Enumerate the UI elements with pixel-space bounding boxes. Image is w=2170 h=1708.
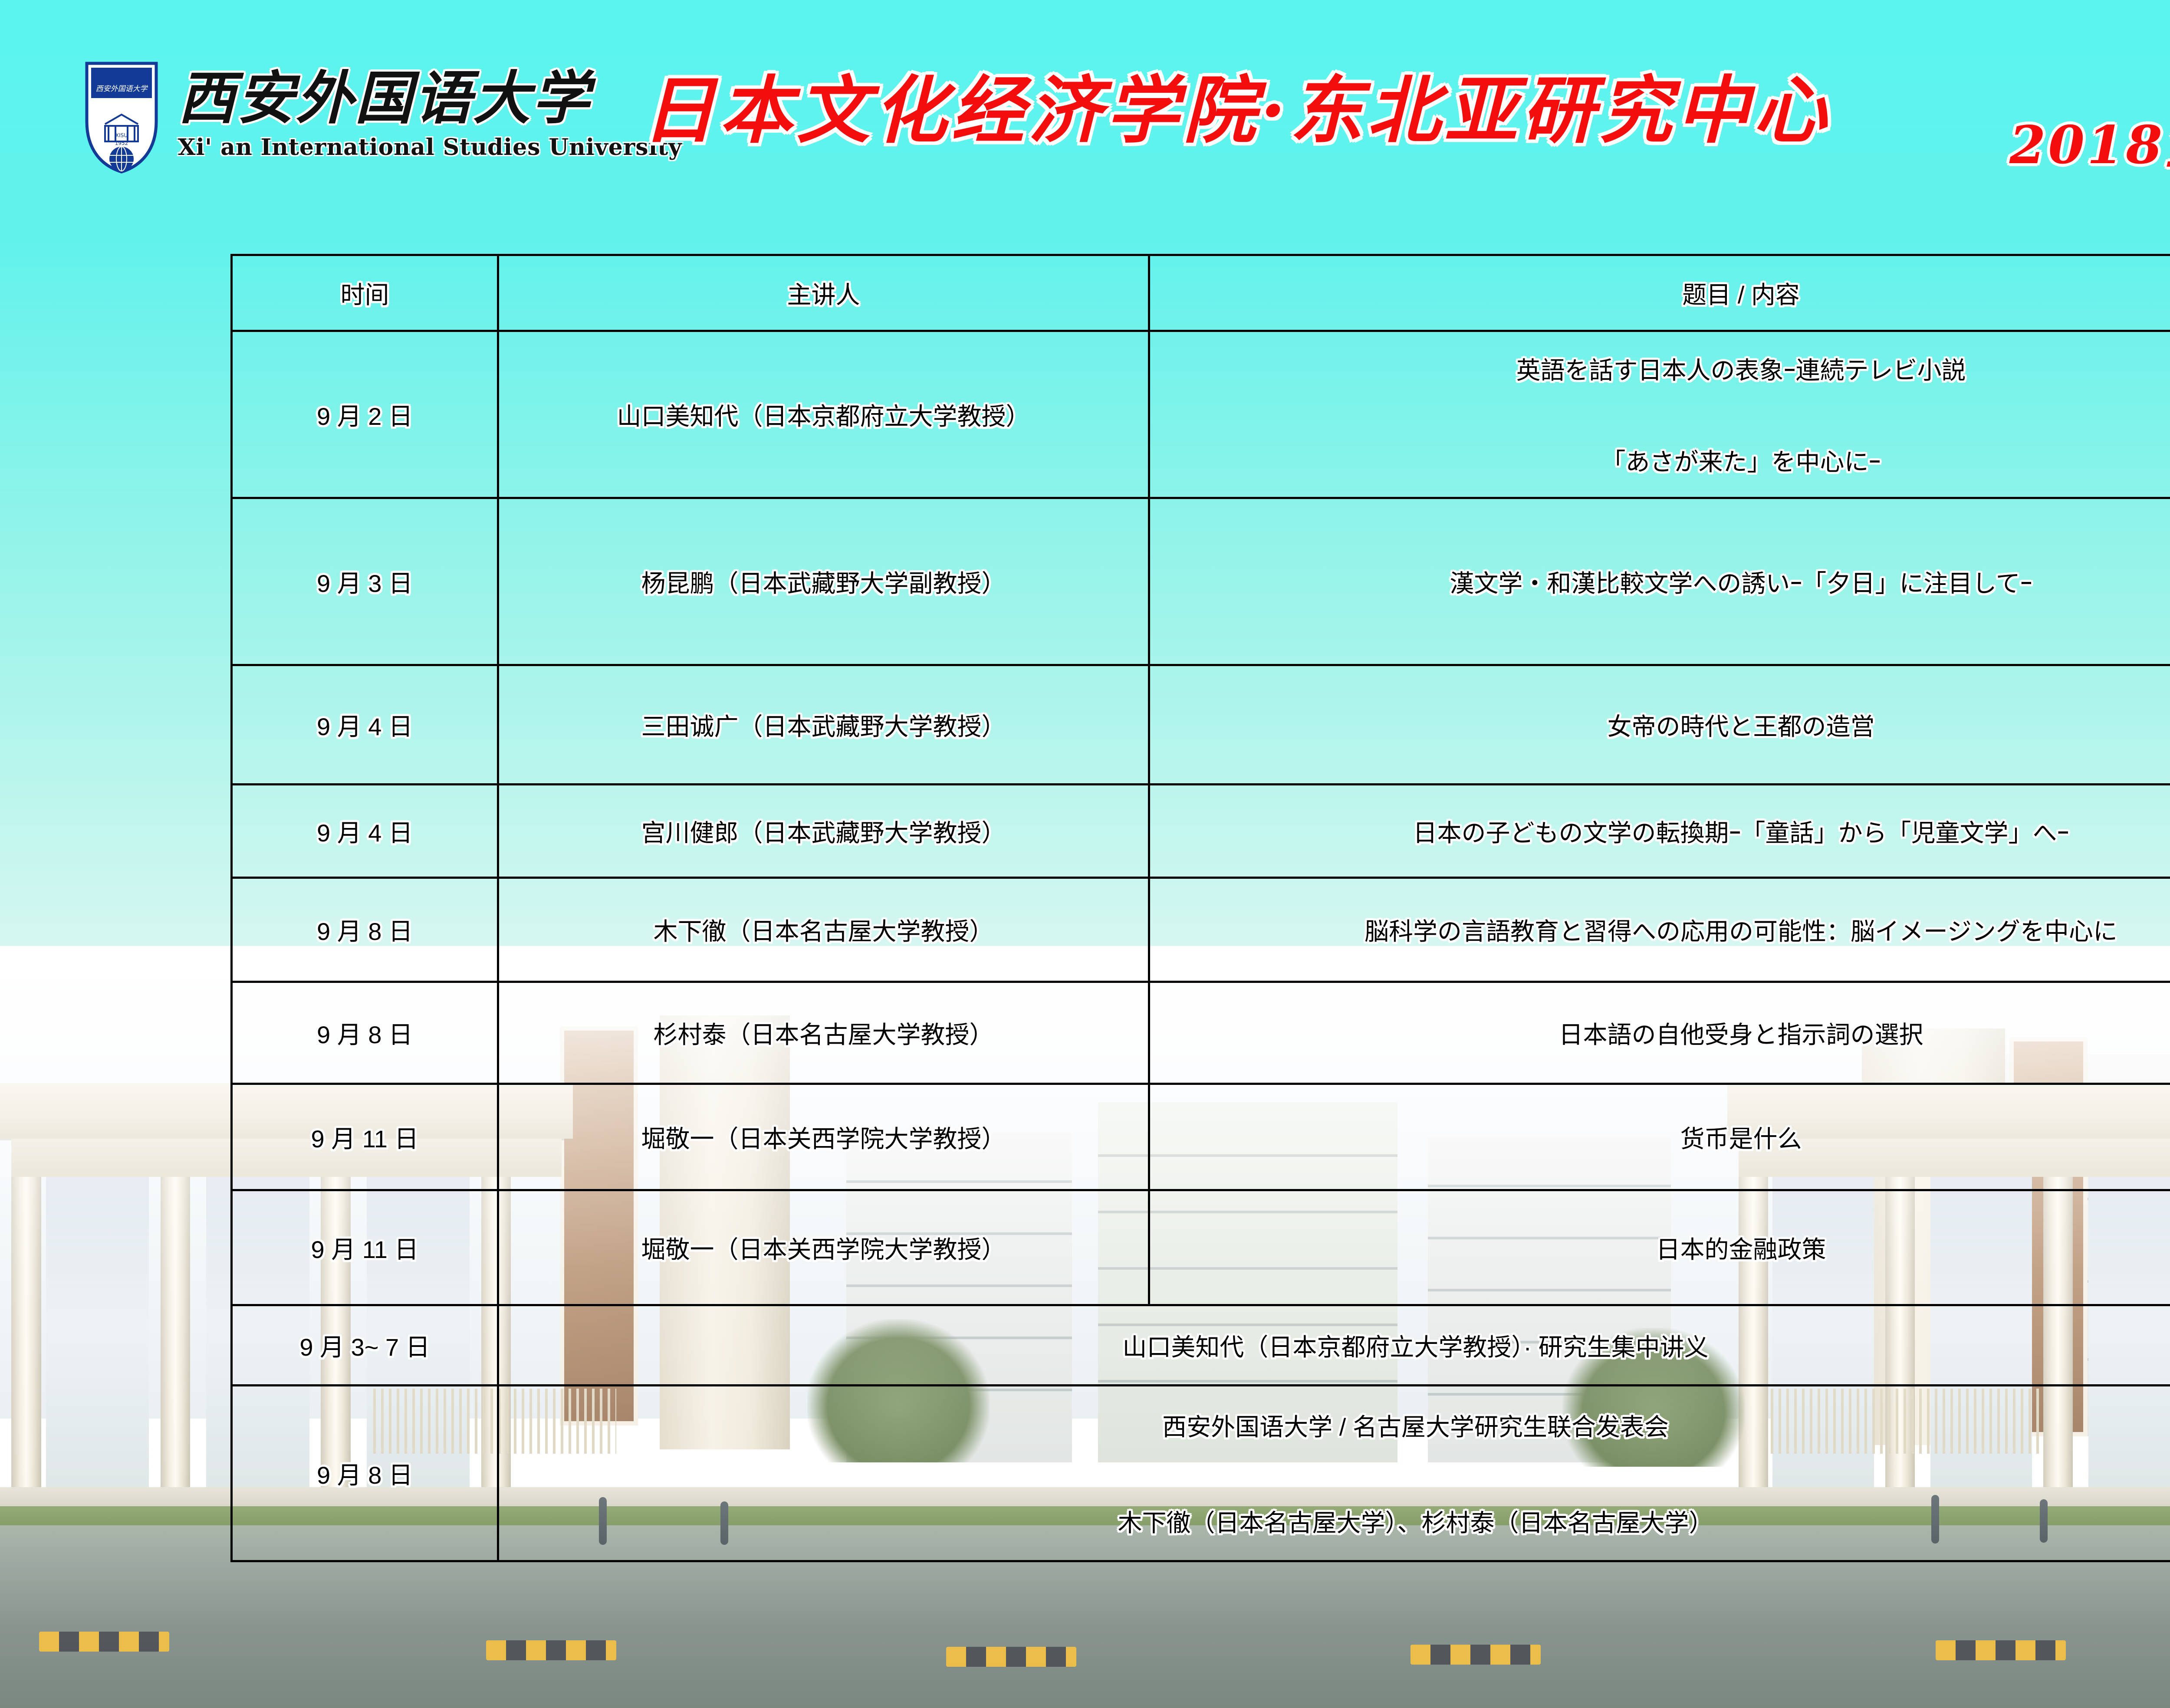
university-name-cn: 西安外国语大学 (178, 70, 682, 127)
lecture-schedule-table: 时间 主讲人 题目 / 内容 9 月 2 日 山口美知代（日本京都府立大学教授）… (230, 254, 2170, 1562)
page-title: 日本文化经济学院·东北亚研究中心 (642, 74, 1831, 147)
university-crest-icon: 西安外国语大学 XISU 1952 (78, 56, 165, 174)
svg-text:1952: 1952 (115, 140, 128, 146)
cell-merged-content: 西安外国语大学 / 名古屋大学研究生联合发表会 木下徹（日本名古屋大学）、杉村泰… (498, 1386, 2170, 1561)
cell-speaker: 堀敬一（日本关西学院大学教授） (498, 1190, 1149, 1305)
table-row: 9 月 2 日 山口美知代（日本京都府立大学教授） 英語を話す日本人の表象ｰ連続… (232, 331, 2170, 498)
cell-speaker: 山口美知代（日本京都府立大学教授） (498, 331, 1149, 498)
table-row: 9 月 4 日 三田诚广（日本武藏野大学教授） 女帝の時代と王都の造営 (232, 665, 2170, 785)
poster-header: 西安外国语大学 XISU 1952 西安外国语大学 Xi' an Interna… (0, 0, 2170, 226)
cell-topic: 日本語の自他受身と指示詞の選択 (1149, 982, 2170, 1084)
table-row-merged: 9 月 8 日 西安外国语大学 / 名古屋大学研究生联合发表会 木下徹（日本名古… (232, 1386, 2170, 1561)
topic-line: 「あさが来た」を中心にｰ (1160, 443, 2170, 478)
cell-speaker: 三田诚广（日本武藏野大学教授） (498, 665, 1149, 785)
table-row-merged: 9 月 3~ 7 日 山口美知代（日本京都府立大学教授）· 研究生集中讲义 (232, 1305, 2170, 1386)
cell-speaker: 宫川健郎（日本武藏野大学教授） (498, 785, 1149, 878)
column-header-speaker: 主讲人 (498, 255, 1149, 331)
cell-topic: 脳科学の言語教育と習得への応用の可能性：脳イメージングを中心に (1149, 878, 2170, 982)
merged-line: 西安外国语大学 / 名古屋大学研究生联合发表会 (509, 1408, 2170, 1443)
column-header-time: 时间 (232, 255, 498, 331)
table-row: 9 月 8 日 杉村泰（日本名古屋大学教授） 日本語の自他受身と指示詞の選択 (232, 982, 2170, 1084)
university-logo: 西安外国语大学 XISU 1952 西安外国语大学 Xi' an Interna… (78, 56, 682, 174)
cell-speaker: 杉村泰（日本名古屋大学教授） (498, 982, 1149, 1084)
svg-text:XISU: XISU (115, 132, 128, 138)
table-row: 9 月 3 日 杨昆鹏（日本武藏野大学副教授） 漢文学・和漢比較文学への誘いｰ「… (232, 498, 2170, 665)
column-header-topic: 题目 / 内容 (1149, 255, 2170, 331)
poster-canvas: 西安外国语大学 XISU 1952 西安外国语大学 Xi' an Interna… (0, 0, 2170, 1708)
cell-time: 9 月 11 日 (232, 1084, 498, 1190)
university-name-en: Xi' an International Studies University (178, 134, 682, 161)
cell-topic: 货币是什么 (1149, 1084, 2170, 1190)
cell-time: 9 月 8 日 (232, 1386, 498, 1561)
cell-time: 9 月 4 日 (232, 665, 498, 785)
event-subtitle: 2018金秋学术月 (2009, 119, 2170, 171)
cell-topic: 英語を話す日本人の表象ｰ連続テレビ小説 「あさが来た」を中心にｰ (1149, 331, 2170, 498)
cell-topic: 日本的金融政策 (1149, 1190, 2170, 1305)
table-row: 9 月 8 日 木下徹（日本名古屋大学教授） 脳科学の言語教育と習得への応用の可… (232, 878, 2170, 982)
cell-time: 9 月 2 日 (232, 331, 498, 498)
svg-text:西安外国语大学: 西安外国语大学 (96, 85, 148, 93)
cell-time: 9 月 3~ 7 日 (232, 1305, 498, 1386)
cell-time: 9 月 3 日 (232, 498, 498, 665)
table-row: 9 月 11 日 堀敬一（日本关西学院大学教授） 货币是什么 (232, 1084, 2170, 1190)
topic-line: 英語を話す日本人の表象ｰ連続テレビ小説 (1160, 351, 2170, 386)
cell-topic: 日本の子どもの文学の転換期ｰ「童話」から「児童文学」へｰ (1149, 785, 2170, 878)
table-header-row: 时间 主讲人 题目 / 内容 (232, 255, 2170, 331)
cell-merged-content: 山口美知代（日本京都府立大学教授）· 研究生集中讲义 (498, 1305, 2170, 1386)
cell-speaker: 堀敬一（日本关西学院大学教授） (498, 1084, 1149, 1190)
cell-speaker: 杨昆鹏（日本武藏野大学副教授） (498, 498, 1149, 665)
merged-line: 木下徹（日本名古屋大学）、杉村泰（日本名古屋大学） (509, 1504, 2170, 1539)
table-row: 9 月 11 日 堀敬一（日本关西学院大学教授） 日本的金融政策 (232, 1190, 2170, 1305)
cell-topic: 女帝の時代と王都の造営 (1149, 665, 2170, 785)
table-row: 9 月 4 日 宫川健郎（日本武藏野大学教授） 日本の子どもの文学の転換期ｰ「童… (232, 785, 2170, 878)
cell-time: 9 月 4 日 (232, 785, 498, 878)
cell-speaker: 木下徹（日本名古屋大学教授） (498, 878, 1149, 982)
cell-time: 9 月 8 日 (232, 982, 498, 1084)
cell-time: 9 月 8 日 (232, 878, 498, 982)
cell-time: 9 月 11 日 (232, 1190, 498, 1305)
cell-topic: 漢文学・和漢比較文学への誘いｰ「夕日」に注目してｰ (1149, 498, 2170, 665)
